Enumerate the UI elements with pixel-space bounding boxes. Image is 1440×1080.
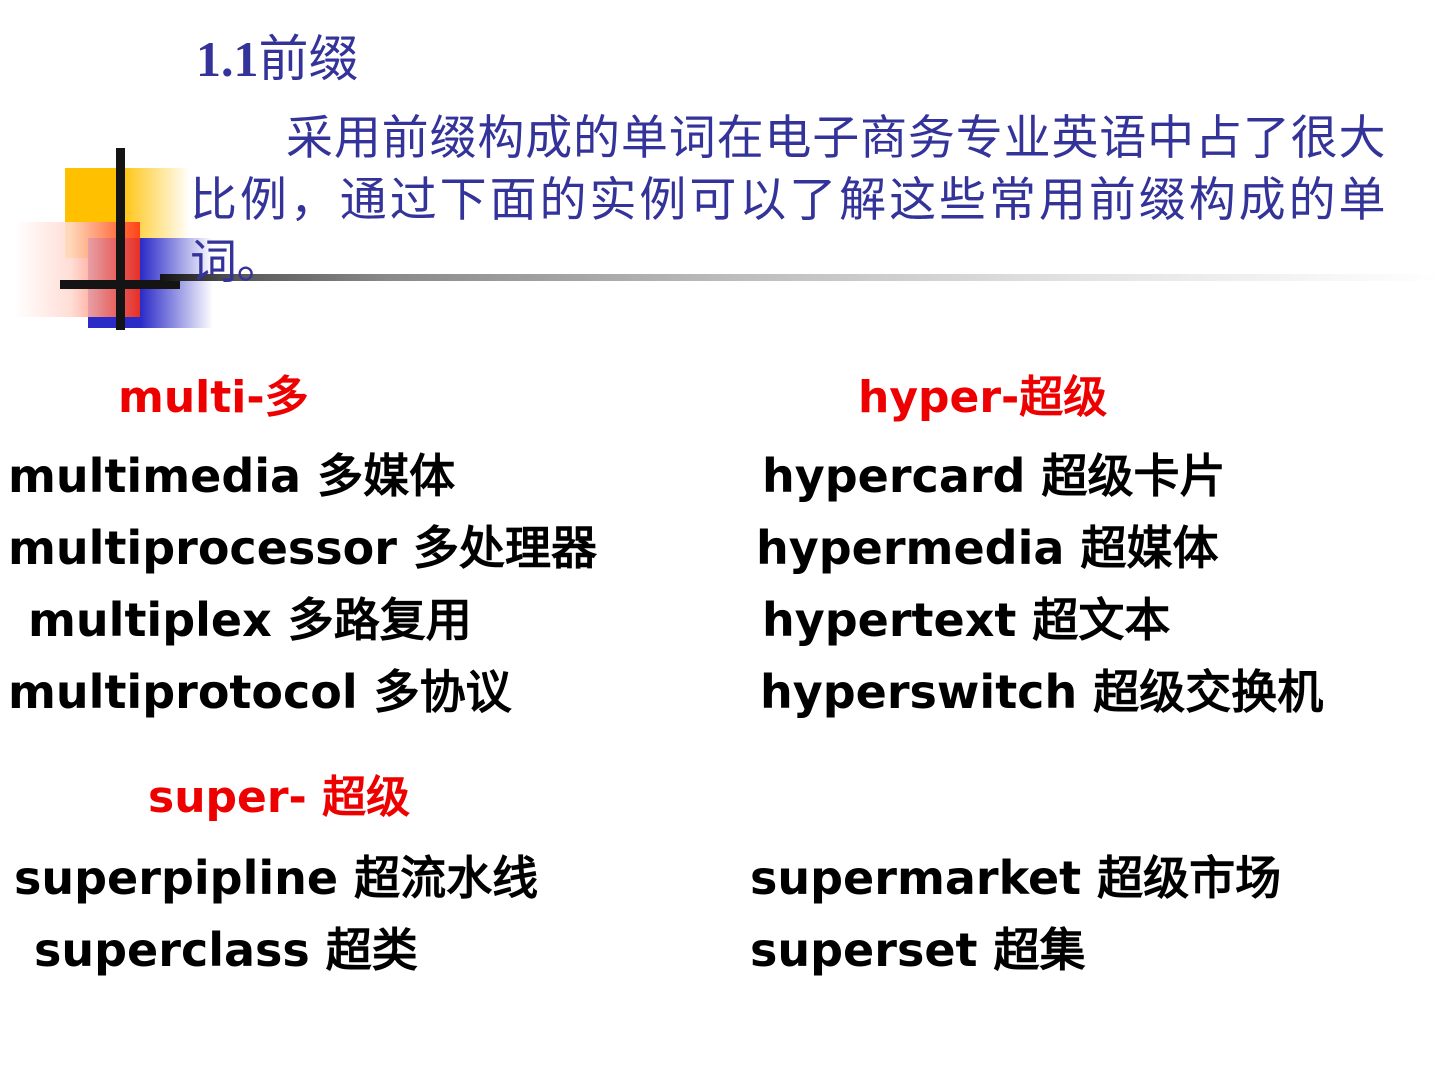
word-zh: 多媒体 [317, 449, 455, 503]
page-title-number: 1.1 [196, 31, 259, 87]
list-item: superclass 超类 [0, 914, 754, 986]
word-en: hyperswitch [760, 665, 1077, 719]
group-heading-hyper-label: hyper-超级 [858, 372, 1107, 423]
slide-canvas: 1.1前缀 采用前缀构成的单词在电子商务专业英语中占了很大比例，通过下面的实例可… [0, 0, 1440, 1080]
word-zh: 超级卡片 [1041, 449, 1225, 503]
word-en: supermarket [750, 851, 1081, 905]
group-heading-super: super- 超级 [0, 770, 868, 826]
word-en: hypercard [762, 449, 1025, 503]
list-item: multiplex 多路复用 [0, 584, 748, 656]
word-en: hypermedia [756, 521, 1064, 575]
word-zh: 超媒体 [1080, 521, 1218, 575]
list-item: hypermedia 超媒体 [720, 512, 1440, 584]
list-item: supermarket 超级市场 [720, 842, 1440, 914]
word-en: superset [750, 923, 978, 977]
word-zh: 多处理器 [413, 521, 597, 575]
list-item: hypercard 超级卡片 [720, 440, 1440, 512]
list-item: multimedia 多媒体 [0, 440, 728, 512]
word-zh: 超文本 [1032, 593, 1170, 647]
word-en: superpipline [14, 851, 338, 905]
word-en: superclass [34, 923, 310, 977]
word-en: multiplex [28, 593, 272, 647]
word-zh: 多路复用 [288, 593, 472, 647]
page-title-text: 前缀 [259, 30, 359, 88]
group-heading-super-label: super- 超级 [148, 772, 410, 823]
word-en: multimedia [8, 449, 301, 503]
list-item: hypertext 超文本 [720, 584, 1440, 656]
red-square-shape [15, 222, 140, 317]
word-zh: 超流水线 [354, 851, 538, 905]
word-en: multiprocessor [8, 521, 397, 575]
horizontal-cross-line [60, 280, 180, 289]
word-en: hypertext [762, 593, 1016, 647]
list-item: multiprotocol 多协议 [0, 656, 728, 728]
list-item: superpipline 超流水线 [0, 842, 734, 914]
list-item: superset 超集 [720, 914, 1440, 986]
word-zh: 超级市场 [1097, 851, 1281, 905]
word-zh: 超级交换机 [1093, 665, 1323, 719]
intro-paragraph: 采用前缀构成的单词在电子商务专业英语中占了很大比例，通过下面的实例可以了解这些常… [190, 108, 1385, 294]
group-heading-multi-label: multi-多 [118, 372, 309, 423]
page-title: 1.1前缀 [196, 30, 1396, 88]
group-heading-multi: multi-多 [0, 370, 838, 426]
header-block: 1.1前缀 [196, 30, 1396, 88]
list-item: hyperswitch 超级交换机 [720, 656, 1440, 728]
yellow-square-shape [65, 168, 190, 258]
word-zh: 超类 [326, 923, 418, 977]
group-heading-hyper: hyper-超级 [720, 370, 1440, 426]
list-item: multiprocessor 多处理器 [0, 512, 728, 584]
word-zh: 多协议 [374, 665, 512, 719]
word-en: multiprotocol [8, 665, 358, 719]
word-zh: 超集 [994, 923, 1086, 977]
vertical-cross-line [116, 148, 125, 330]
